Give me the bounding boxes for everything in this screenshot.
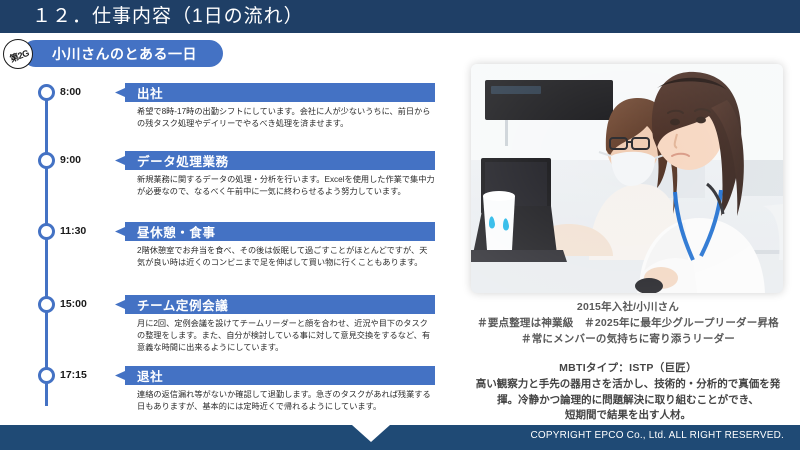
section-pill-label: 小川さんのとある一日 bbox=[52, 44, 197, 64]
profile-line-3: ＃常にメンバーの気持ちに寄り添うリーダー bbox=[456, 332, 800, 348]
timeline-bar: 出社 bbox=[115, 83, 435, 102]
mbti-title: MBTIタイプ：ISTP（巨匠） bbox=[456, 360, 800, 377]
timeline-spine bbox=[45, 90, 48, 406]
timeline-bar: チーム定例会議 bbox=[115, 295, 435, 314]
timeline-time: 8:00 bbox=[60, 86, 81, 98]
office-photo-illustration bbox=[471, 64, 783, 293]
timeline-bar: 退社 bbox=[115, 366, 435, 385]
timeline-bar: 昼休憩・食事 bbox=[115, 222, 435, 241]
footer-notch-icon bbox=[352, 425, 390, 442]
mbti-block: MBTIタイプ：ISTP（巨匠） 高い観察力と手先の器用さを活かし、技術的・分析… bbox=[456, 360, 800, 424]
timeline-bar-label: チーム定例会議 bbox=[137, 295, 228, 314]
timeline-node-icon bbox=[38, 367, 55, 384]
footer-bar: COPYRIGHT EPCO Co., Ltd. ALL RIGHT RESER… bbox=[0, 425, 800, 450]
profile-line-1: 2015年入社/小川さん bbox=[456, 300, 800, 316]
timeline-time: 15:00 bbox=[60, 298, 87, 310]
profile-line-2: ＃要点整理は神業級 ＃2025年に最年少グループリーダー昇格 bbox=[456, 316, 800, 332]
timeline-description: 希望で8時-17時の出勤シフトにしています。会社に人が少ないうちに、前日からの残… bbox=[137, 106, 435, 130]
timeline: 8:00 出社 希望で8時-17時の出勤シフトにしています。会社に人が少ないうち… bbox=[0, 78, 450, 418]
timeline-bar-label: 昼休憩・食事 bbox=[137, 222, 216, 241]
office-photo bbox=[471, 64, 783, 293]
timeline-description: 2階休憩室でお弁当を食べ、その後は仮眠して過ごすことがほとんどですが、天気が良い… bbox=[137, 245, 435, 269]
timeline-bar-label: 出社 bbox=[137, 83, 163, 102]
mbti-line-2: 揮。冷静かつ論理的に問題解決に取り組むことができ、 bbox=[456, 393, 800, 409]
timeline-description: 連絡の返信漏れ等がないか確認して退勤します。急ぎのタスクがあれば残業する日もあり… bbox=[137, 389, 435, 413]
timeline-time: 17:15 bbox=[60, 369, 87, 381]
copyright-text: COPYRIGHT EPCO Co., Ltd. ALL RIGHT RESER… bbox=[530, 430, 784, 441]
section-pill: 小川さんのとある一日 bbox=[22, 40, 223, 67]
timeline-node-icon bbox=[38, 152, 55, 169]
section-heading: 小川さんのとある一日 第2G bbox=[0, 38, 420, 70]
timeline-description: 月に2回、定例会議を設けてチームリーダーと顔を合わせ、近況や目下のタスクの整理を… bbox=[137, 318, 435, 354]
timeline-bar-label: データ処理業務 bbox=[137, 151, 229, 170]
timeline-node-icon bbox=[38, 223, 55, 240]
timeline-node-icon bbox=[38, 296, 55, 313]
timeline-bar-label: 退社 bbox=[137, 366, 163, 385]
timeline-time: 11:30 bbox=[60, 225, 86, 237]
profile-block: 2015年入社/小川さん ＃要点整理は神業級 ＃2025年に最年少グループリーダ… bbox=[456, 300, 800, 347]
timeline-description: 新規業務に関するデータの処理・分析を行います。Excelを使用した作業で集中力が… bbox=[137, 174, 435, 198]
timeline-time: 9:00 bbox=[60, 154, 81, 166]
timeline-node-icon bbox=[38, 84, 55, 101]
mbti-line-1: 高い観察力と手先の器用さを活かし、技術的・分析的で真価を発 bbox=[456, 377, 800, 393]
group-stamp-icon: 第2G bbox=[3, 39, 33, 69]
slide-root: １２．仕事内容（1日の流れ） 小川さんのとある一日 第2G 8:00 出社 希望… bbox=[0, 0, 800, 450]
timeline-bar: データ処理業務 bbox=[115, 151, 435, 170]
mbti-line-3: 短期間で結果を出す人材。 bbox=[456, 408, 800, 424]
page-title: １２．仕事内容（1日の流れ） bbox=[32, 4, 304, 29]
